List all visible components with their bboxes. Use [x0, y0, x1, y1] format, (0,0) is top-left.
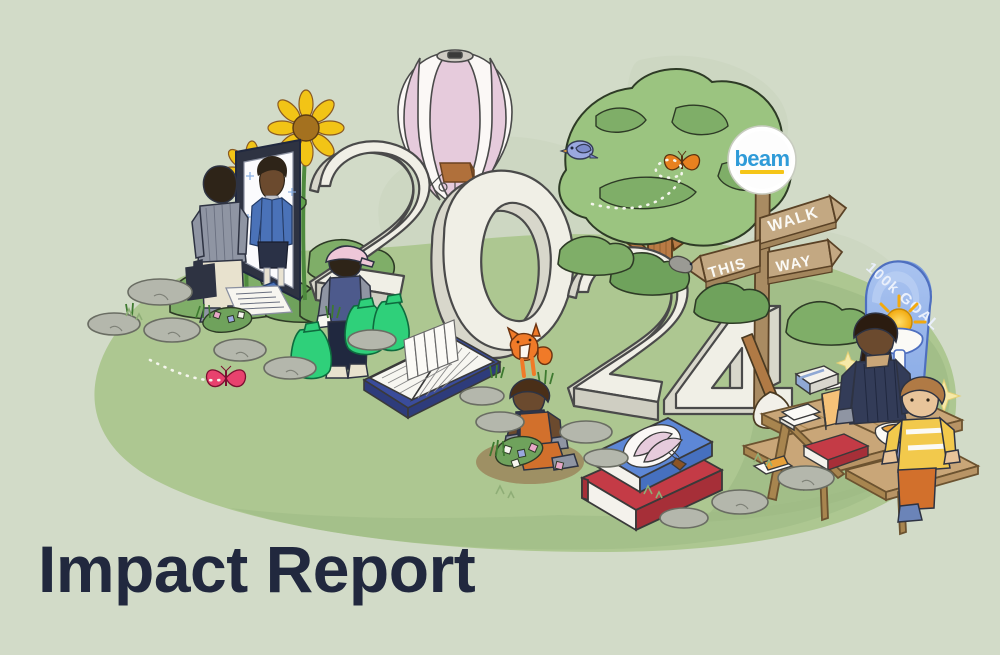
impact-report-cover: WALK THIS WAY [0, 0, 1000, 655]
beam-wordmark: beam [734, 146, 789, 171]
beam-underline [740, 170, 784, 174]
beam-logo-sign[interactable]: beam [728, 126, 796, 194]
page-title: Impact Report [38, 536, 475, 602]
